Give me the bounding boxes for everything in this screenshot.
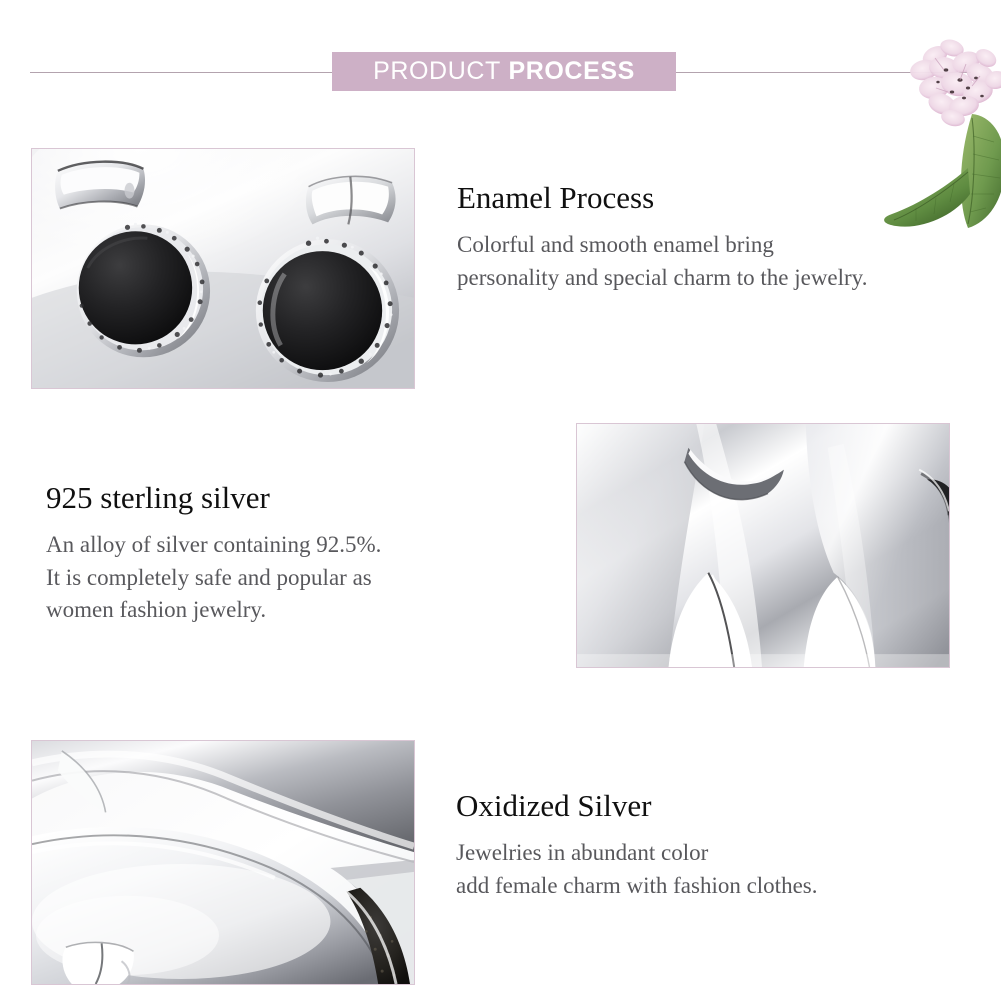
section-oxidized-body: Jewelries in abundant color add female c… <box>456 837 976 902</box>
header-rule-left <box>30 72 332 73</box>
section-sterling-text: 925 sterling silver An alloy of silver c… <box>46 481 546 627</box>
section-oxidized-text: Oxidized Silver Jewelries in abundant co… <box>456 789 976 902</box>
section-sterling-heading: 925 sterling silver <box>46 481 546 515</box>
sterling-silver-macro-photo <box>576 423 950 668</box>
section-enamel-body: Colorful and smooth enamel bring persona… <box>457 229 1001 294</box>
page-title-light: PRODUCT <box>373 57 501 86</box>
section-sterling-body: An alloy of silver containing 92.5%. It … <box>46 529 546 627</box>
page-title-bold: PROCESS <box>508 57 634 86</box>
header-rule-right <box>676 72 971 73</box>
section-enamel-text: Enamel Process Colorful and smooth ename… <box>457 181 1001 294</box>
section-oxidized-heading: Oxidized Silver <box>456 789 976 823</box>
page-title-banner: PRODUCT PROCESS <box>332 52 676 91</box>
oxidized-silver-macro-photo <box>31 740 415 985</box>
page-header: PRODUCT PROCESS <box>0 0 1001 110</box>
page-title-space <box>501 57 509 86</box>
enamel-beads-macro-photo <box>31 148 415 389</box>
section-enamel-heading: Enamel Process <box>457 181 1001 215</box>
